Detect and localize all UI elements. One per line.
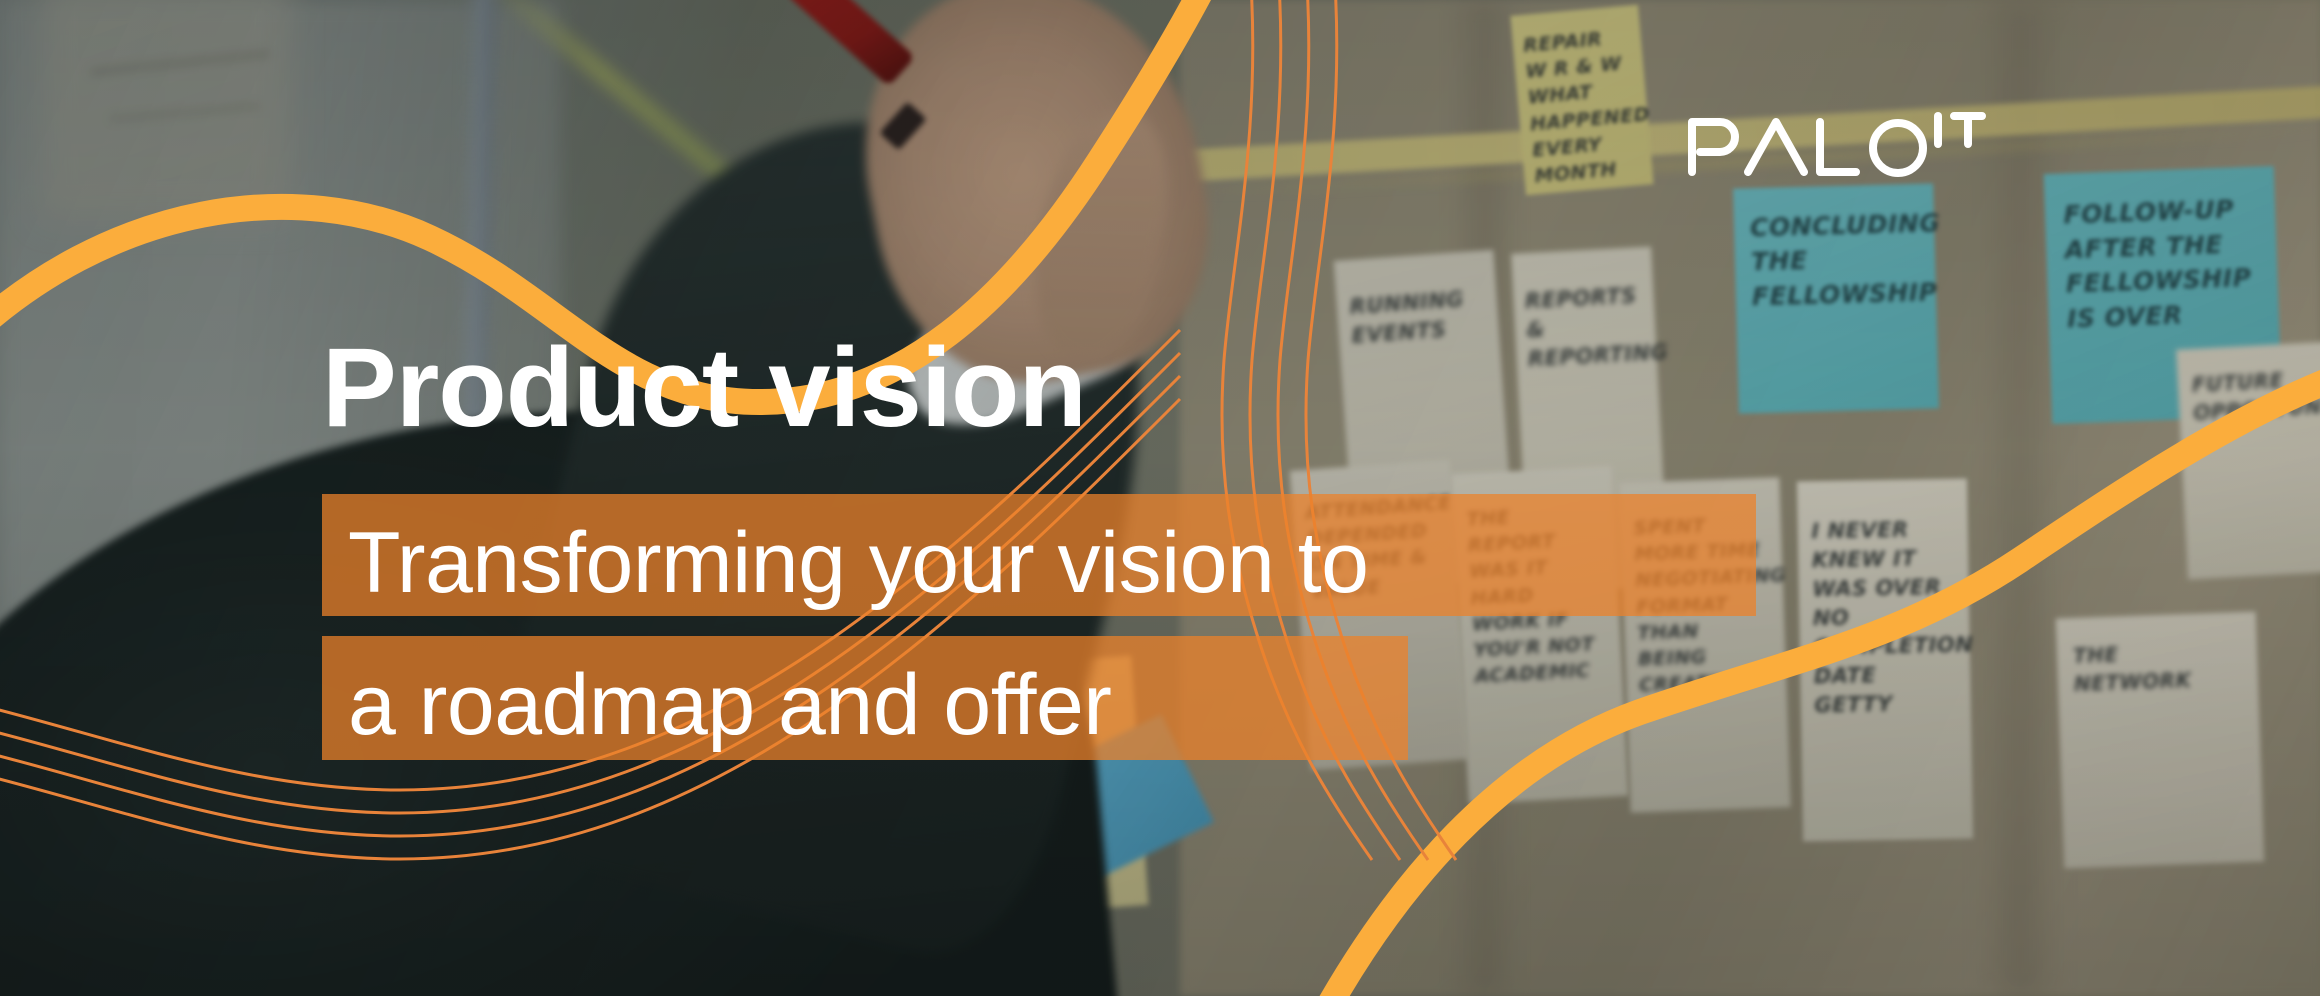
subtitle-line-1: Transforming your vision to <box>348 520 1368 606</box>
subtitle-line-2: a roadmap and offer <box>348 662 1111 748</box>
palo-it-logo[interactable] <box>1686 110 1986 180</box>
page-title: Product vision <box>322 332 1086 444</box>
hero-banner: REPAIR W R & W WHAT HAPPENED EVERY MONTH… <box>0 0 2320 996</box>
